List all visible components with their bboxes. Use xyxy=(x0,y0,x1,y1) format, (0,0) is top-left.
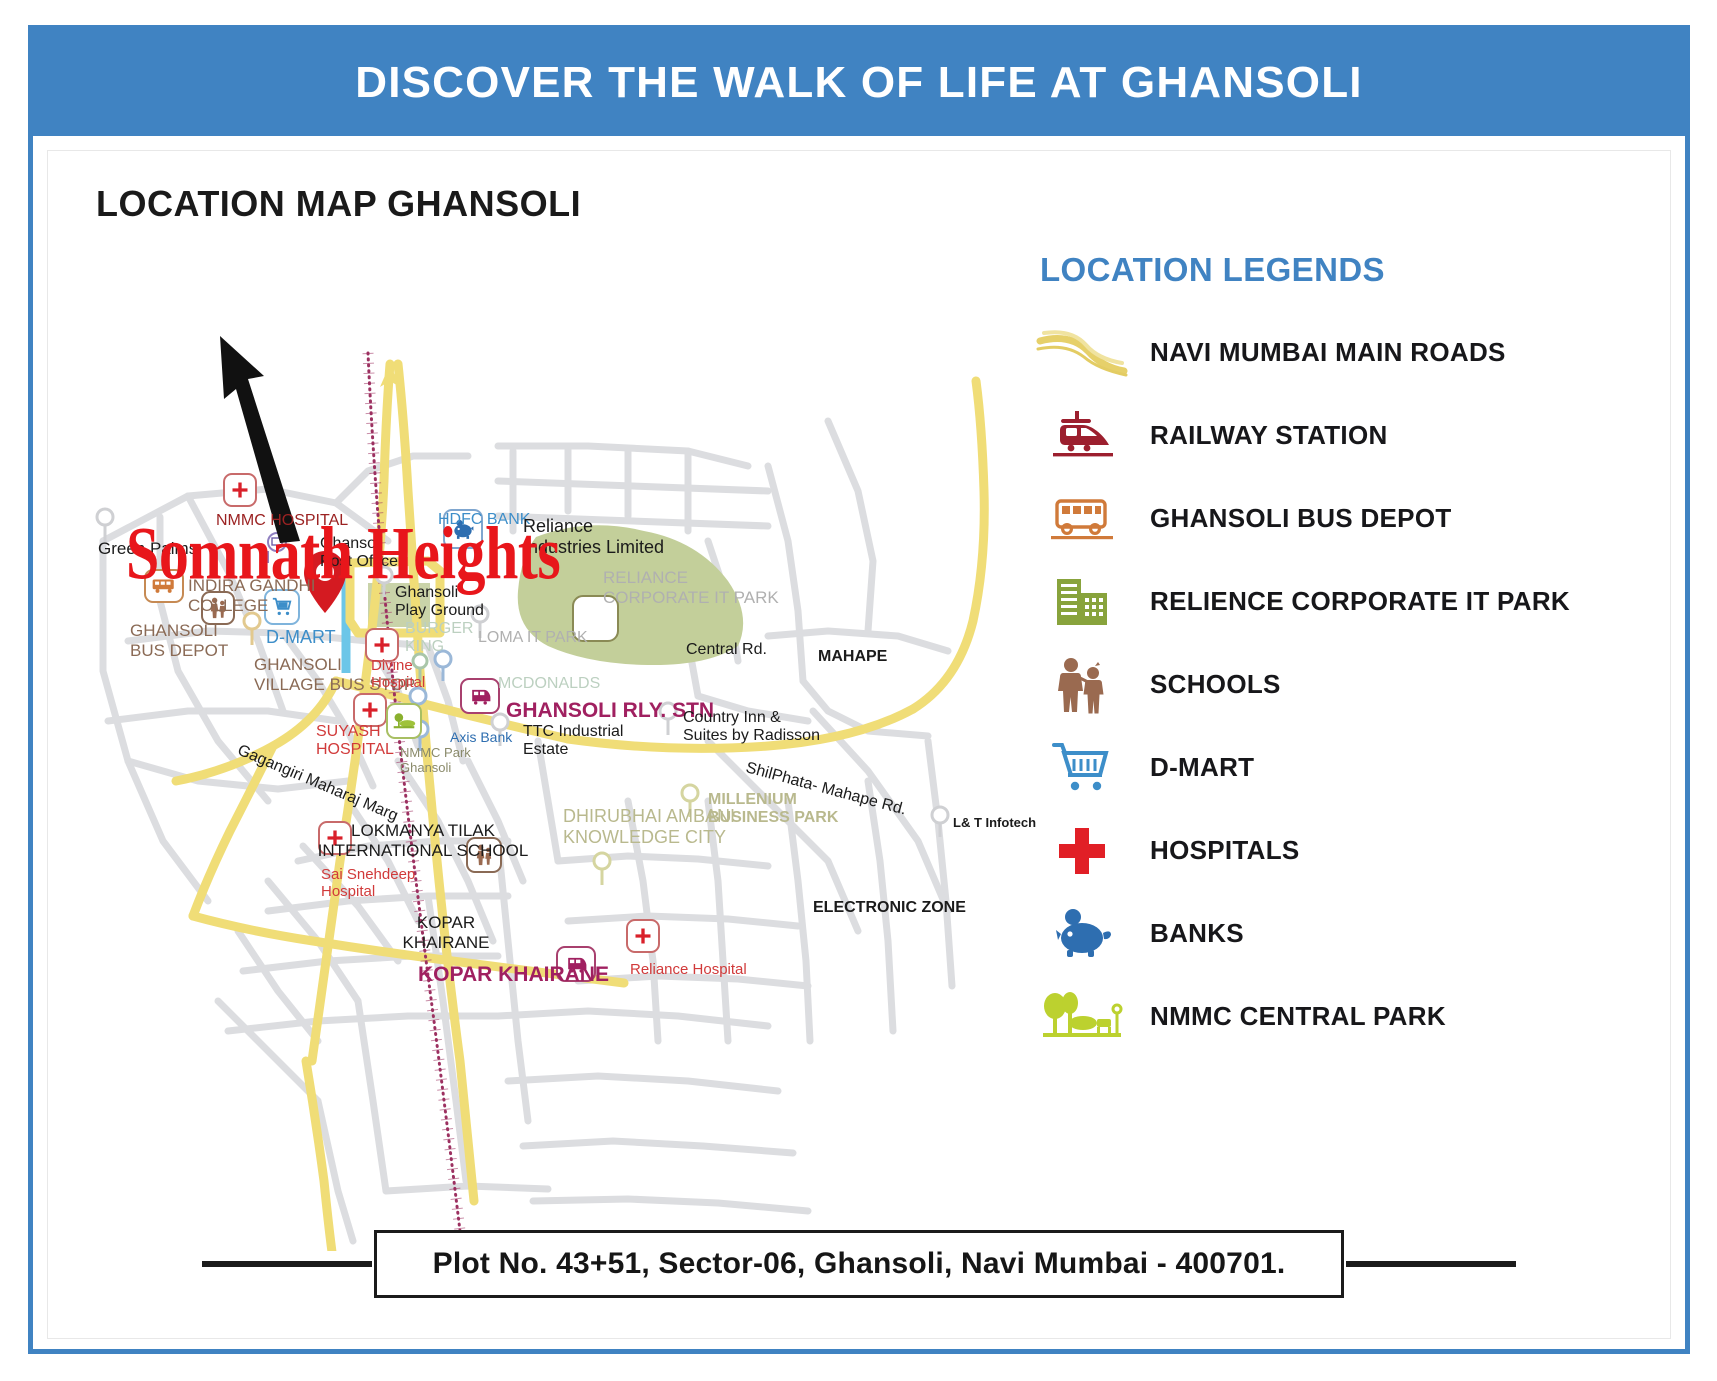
legend-item-label: NMMC CENTRAL PARK xyxy=(1150,1001,1446,1032)
map-label: BURGERKING xyxy=(405,620,473,657)
park-tree-icon xyxy=(1028,982,1136,1052)
map-label: Reliance Hospital xyxy=(630,961,747,978)
map-label: D-MART xyxy=(266,627,336,648)
legend-item-main-roads[interactable]: NAVI MUMBAI MAIN ROADS xyxy=(1028,311,1648,394)
map-label: Axis Bank xyxy=(450,729,512,745)
project-title: Somnath Heights xyxy=(126,511,560,597)
map-label: KOPARKHAIRANE xyxy=(403,913,490,952)
legend-panel: LOCATION LEGENDS NAVI MUMBAI MAIN ROADS xyxy=(1028,251,1648,1058)
train-icon[interactable] xyxy=(460,678,500,714)
map-label: ELECTRONIC ZONE xyxy=(813,899,966,917)
poster-frame: DISCOVER THE WALK OF LIFE AT GHANSOLI LO… xyxy=(28,25,1690,1354)
map-label: DHIRUBHAI AMBANIKNOWLEDGE CITY xyxy=(563,806,735,847)
office-building-icon xyxy=(1028,567,1136,637)
map-label: L& T Infotech xyxy=(953,816,1036,831)
legend-title: LOCATION LEGENDS xyxy=(1040,251,1648,289)
legend-item-label: SCHOOLS xyxy=(1150,669,1281,700)
map-label: Sai SnehdeepHospital xyxy=(321,866,415,901)
map-label: KOPAR KHAIRANE xyxy=(418,963,609,987)
bus-icon xyxy=(1028,484,1136,554)
hospital-cross-icon xyxy=(1028,816,1136,886)
piggy-bank-icon xyxy=(1028,899,1136,969)
legend-item-it-park[interactable]: RELIENCE CORPORATE IT PARK xyxy=(1028,560,1648,643)
address-text: Plot No. 43+51, Sector-06, Ghansoli, Nav… xyxy=(433,1247,1286,1281)
legend-item-hospitals[interactable]: HOSPITALS xyxy=(1028,809,1648,892)
legend-item-bus-depot[interactable]: GHANSOLI BUS DEPOT xyxy=(1028,477,1648,560)
location-map[interactable]: Green PalmsNMMC HOSPITALGhansoliPost Off… xyxy=(68,241,1028,1251)
map-label: RELIANCECORPORATE IT PARK xyxy=(603,568,779,607)
map-label: MCDONALDS xyxy=(498,675,600,693)
map-label: NMMC ParkGhansoli xyxy=(400,746,471,776)
hospital-cross-icon[interactable] xyxy=(353,693,387,727)
legend-item-label: NAVI MUMBAI MAIN ROADS xyxy=(1150,337,1506,368)
legend-item-label: D-MART xyxy=(1150,752,1254,783)
map-panel: LOCATION MAP GHANSOLI xyxy=(47,150,1671,1339)
legend-item-label: BANKS xyxy=(1150,918,1244,949)
footer-rule-left xyxy=(202,1261,372,1267)
hospital-cross-icon[interactable] xyxy=(626,919,660,953)
legend-item-dmart[interactable]: D-MART xyxy=(1028,726,1648,809)
legend-item-banks[interactable]: BANKS xyxy=(1028,892,1648,975)
poster-header: DISCOVER THE WALK OF LIFE AT GHANSOLI xyxy=(33,30,1685,136)
legend-item-label: RELIENCE CORPORATE IT PARK xyxy=(1150,586,1570,617)
map-label: TTC IndustrialEstate xyxy=(523,723,623,760)
road-icon xyxy=(1028,318,1136,388)
map-label: GHANSOLIBUS DEPOT xyxy=(130,621,228,660)
map-label: SUYASHHOSPITAL xyxy=(316,723,394,760)
map-label: LOMA IT PARK xyxy=(478,629,588,647)
legend-item-schools[interactable]: SCHOOLS xyxy=(1028,643,1648,726)
header-title: DISCOVER THE WALK OF LIFE AT GHANSOLI xyxy=(355,58,1363,108)
shopping-cart-icon xyxy=(1028,733,1136,803)
address-box: Plot No. 43+51, Sector-06, Ghansoli, Nav… xyxy=(374,1230,1345,1298)
page-title: LOCATION MAP GHANSOLI xyxy=(96,183,581,225)
legend-item-label: RAILWAY STATION xyxy=(1150,420,1388,451)
legend-item-railway-station[interactable]: RAILWAY STATION xyxy=(1028,394,1648,477)
legend-item-label: HOSPITALS xyxy=(1150,835,1300,866)
map-label: MAHAPE xyxy=(818,648,887,666)
footer: Plot No. 43+51, Sector-06, Ghansoli, Nav… xyxy=(48,1230,1670,1298)
map-label: DivineHospital xyxy=(371,657,425,692)
hospital-cross-icon[interactable] xyxy=(223,473,257,507)
legend-item-label: GHANSOLI BUS DEPOT xyxy=(1150,503,1452,534)
map-label: LOKMANYA TILAKINTERNATIONAL SCHOOL xyxy=(318,821,529,860)
map-label: Country Inn &Suites by Radisson xyxy=(683,709,820,746)
legend-item-central-park[interactable]: NMMC CENTRAL PARK xyxy=(1028,975,1648,1058)
school-children-icon xyxy=(1028,650,1136,720)
map-label: Central Rd. xyxy=(686,641,767,659)
footer-rule-right xyxy=(1346,1261,1516,1267)
train-icon xyxy=(1028,401,1136,471)
